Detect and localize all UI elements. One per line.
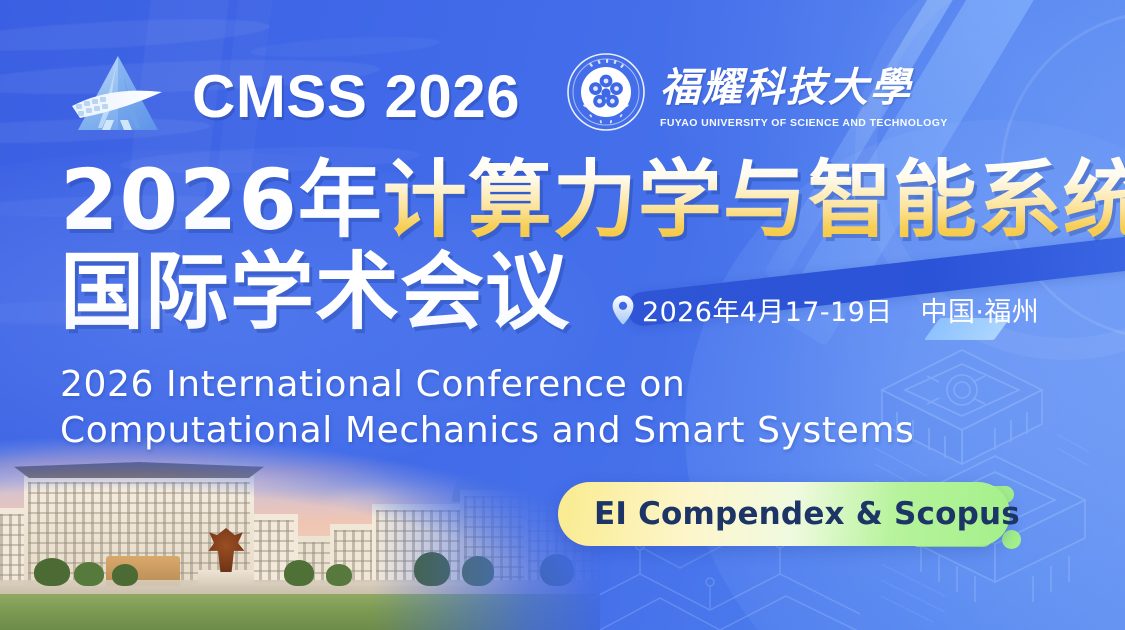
title-year: 2026年 (60, 151, 383, 249)
decoration-dot (1002, 530, 1021, 549)
title-kind: 国际学术会议 (60, 243, 570, 341)
university-name-cn: 福耀科技大學 (660, 55, 948, 113)
fuyao-university-seal-icon (566, 52, 646, 132)
title-line-1: 2026年计算力学与智能系统 (60, 158, 1125, 242)
indexing-badge: EI Compendex & Scopus (558, 482, 1010, 546)
conference-subtitle-en: 2026 International Conference on Computa… (60, 362, 914, 454)
date-location-row: 2026年4月17-19日 中国·福州 (612, 290, 1039, 329)
conference-location: 中国·福州 (921, 290, 1040, 329)
title-topic: 计算力学与智能系统 (383, 151, 1125, 249)
subtitle-line-2: Computational Mechanics and Smart System… (60, 408, 914, 454)
cmss-triangle-logo-icon (62, 48, 174, 144)
conference-date: 2026年4月17-19日 (642, 290, 893, 329)
banner-content: CMSS 2026 (0, 0, 1125, 630)
location-pin-icon (612, 295, 634, 325)
conference-header: CMSS 2026 (62, 48, 520, 144)
indexing-badge-wrapper: EI Compendex & Scopus (558, 482, 1038, 554)
university-names: 福耀科技大學 FUYAO UNIVERSITY OF SCIENCE AND T… (660, 55, 948, 129)
conference-acronym-title: CMSS 2026 (192, 62, 520, 131)
conference-banner: CMSS 2026 (0, 0, 1125, 630)
university-lockup: 福耀科技大學 FUYAO UNIVERSITY OF SCIENCE AND T… (566, 52, 948, 132)
university-name-en: FUYAO UNIVERSITY OF SCIENCE AND TECHNOLO… (660, 117, 948, 129)
subtitle-line-1: 2026 International Conference on (60, 362, 914, 408)
indexing-badge-label: EI Compendex & Scopus (594, 496, 1020, 532)
